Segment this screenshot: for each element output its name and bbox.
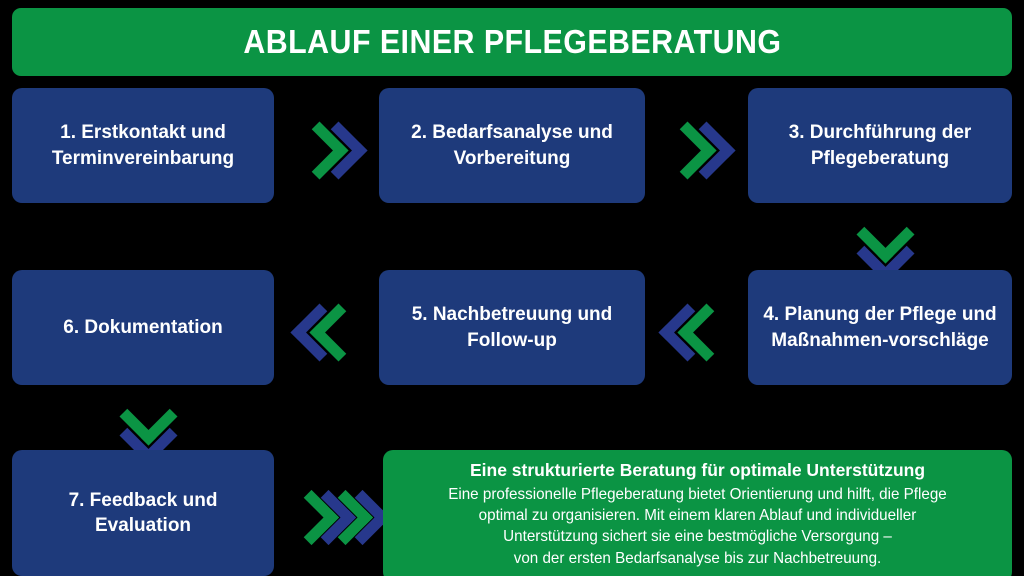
arrow-step6-to-step7 <box>111 385 175 455</box>
arrow-step4-to-step5 <box>656 295 726 359</box>
step-box-7[interactable]: 7. Feedback und Evaluation <box>12 450 274 576</box>
arrow-step1-to-step2 <box>288 113 358 177</box>
arrow-step2-to-step3 <box>656 113 726 177</box>
step-label-7: 7. Feedback und Evaluation <box>26 488 260 538</box>
step-box-3[interactable]: 3. Durchführung der Pflegeberatung <box>748 88 1012 203</box>
summary-panel: Eine strukturierte Beratung für optimale… <box>383 450 1012 576</box>
chevron-right-navy-icon <box>343 498 371 526</box>
step-label-2: 2. Bedarfsanalyse und Vorbereitung <box>393 120 631 170</box>
chevron-down-navy-icon <box>865 233 895 263</box>
summary-line-4: von der ersten Bedarfsanalyse bis zur Na… <box>414 548 981 569</box>
summary-body: Eine professionelle Pflegeberatung biete… <box>414 484 981 569</box>
arrow-step5-to-step6 <box>288 295 358 359</box>
chevron-right-navy-icon <box>318 130 348 160</box>
summary-line-1: Eine professionelle Pflegeberatung biete… <box>414 484 981 505</box>
summary-line-3: Unterstützung sichert sie eine bestmögli… <box>414 526 981 547</box>
chevron-down-navy-icon <box>128 415 158 445</box>
step-label-3: 3. Durchführung der Pflegeberatung <box>762 120 998 170</box>
step-label-6: 6. Dokumentation <box>63 315 222 340</box>
step-label-4: 4. Planung der Pflege und Maßnahmen-vors… <box>762 302 998 352</box>
chevron-left-green-icon <box>318 312 348 342</box>
step-label-5: 5. Nachbetreuung und Follow-up <box>393 302 631 352</box>
arrow-step7-to-summary <box>281 480 381 544</box>
chevron-right-navy-icon <box>686 130 716 160</box>
arrow-step3-to-step4 <box>848 203 912 273</box>
step-label-1: 1. Erstkontakt und Terminvereinbarung <box>26 120 260 170</box>
step-box-5[interactable]: 5. Nachbetreuung und Follow-up <box>379 270 645 385</box>
header-banner: ABLAUF EINER PFLEGEBERATUNG <box>12 8 1012 76</box>
summary-heading: Eine strukturierte Beratung für optimale… <box>399 460 996 482</box>
step-box-4[interactable]: 4. Planung der Pflege und Maßnahmen-vors… <box>748 270 1012 385</box>
step-box-1[interactable]: 1. Erstkontakt und Terminvereinbarung <box>12 88 274 203</box>
page-title: ABLAUF EINER PFLEGEBERATUNG <box>243 23 781 61</box>
step-box-2[interactable]: 2. Bedarfsanalyse und Vorbereitung <box>379 88 645 203</box>
summary-line-2: optimal zu organisieren. Mit einem klare… <box>414 505 981 526</box>
chevron-left-green-icon <box>686 312 716 342</box>
step-box-6[interactable]: 6. Dokumentation <box>12 270 274 385</box>
